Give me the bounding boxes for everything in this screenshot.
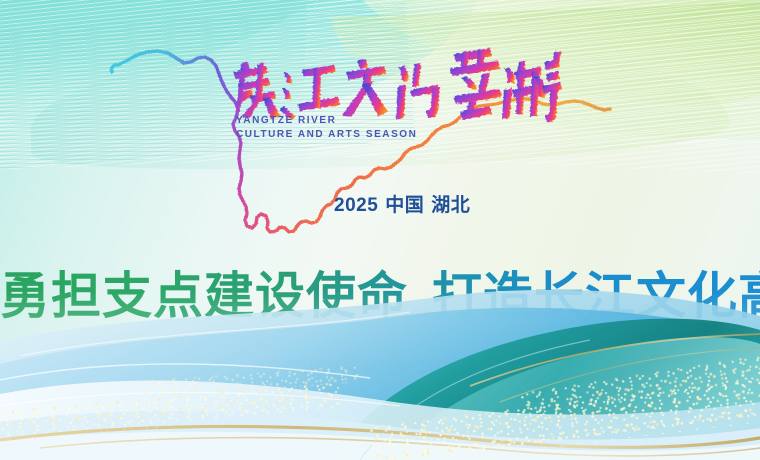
poster-canvas: YANGTZE RIVER CULTURE AND ARTS SEASON 20… xyxy=(0,0,760,460)
edition-province: 湖北 xyxy=(431,195,470,216)
main-slogan: 勇担支点建设使命打造长江文化高地 xyxy=(0,266,760,326)
slogan-part-1: 勇担支点建设使命 xyxy=(0,267,408,325)
slogan-part-2: 打造长江文化高地 xyxy=(432,267,760,325)
gold-glitter-center xyxy=(369,375,760,460)
gold-glitter-left xyxy=(0,381,341,441)
edition-year: 2025 xyxy=(334,195,378,216)
english-subtitle: YANGTZE RIVER CULTURE AND ARTS SEASON xyxy=(236,114,417,142)
edition-country: 中国 xyxy=(385,195,424,216)
english-subtitle-line-1: YANGTZE RIVER xyxy=(236,114,417,128)
english-subtitle-line-2: CULTURE AND ARTS SEASON xyxy=(236,128,417,142)
edition-line: 2025中国湖北 xyxy=(334,190,470,217)
date-range: 2025年9月12日-10月30日 xyxy=(0,352,760,379)
